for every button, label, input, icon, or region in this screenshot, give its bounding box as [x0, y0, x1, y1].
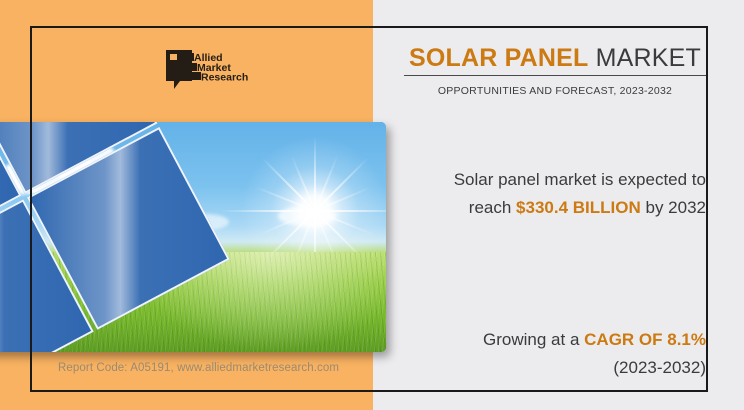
stat-cagr-line1: Growing at a CAGR OF 8.1% — [396, 326, 706, 354]
stat-market-value-line1: Solar panel market is expected to — [396, 166, 706, 194]
stat-line2-pre: reach — [469, 198, 516, 217]
infographic-banner: Allied Market Research SOLAR PANEL MARKE… — [0, 0, 744, 410]
hero-image — [0, 122, 386, 352]
title-rest: MARKET — [589, 44, 702, 72]
stat-cagr-value: CAGR OF 8.1% — [584, 330, 706, 349]
stat-market-value-amount: $330.4 BILLION — [516, 198, 641, 217]
logo-mark: Allied Market Research — [164, 48, 250, 96]
title-divider — [404, 75, 706, 76]
title-accent: SOLAR PANEL — [409, 44, 589, 72]
stat-cagr: Growing at a CAGR OF 8.1% (2023-2032) — [396, 326, 706, 382]
logo-text-research: Research — [201, 72, 248, 84]
page-title: SOLAR PANEL MARKET — [404, 44, 706, 72]
stat-market-value-line2: reach $330.4 BILLION by 2032 — [396, 194, 706, 222]
hero-scene — [0, 122, 386, 352]
stat-cagr-pre: Growing at a — [483, 330, 584, 349]
stat-cagr-period: (2023-2032) — [396, 354, 706, 382]
page-subtitle: OPPORTUNITIES AND FORECAST, 2023-2032 — [404, 85, 706, 97]
report-code-footer: Report Code: A05191, www.alliedmarketres… — [58, 362, 339, 374]
sun-ray — [220, 210, 386, 212]
stat-line2-post: by 2032 — [641, 198, 706, 217]
stat-market-value: Solar panel market is expected to reach … — [396, 166, 706, 222]
allied-market-research-logo: Allied Market Research — [164, 48, 250, 96]
